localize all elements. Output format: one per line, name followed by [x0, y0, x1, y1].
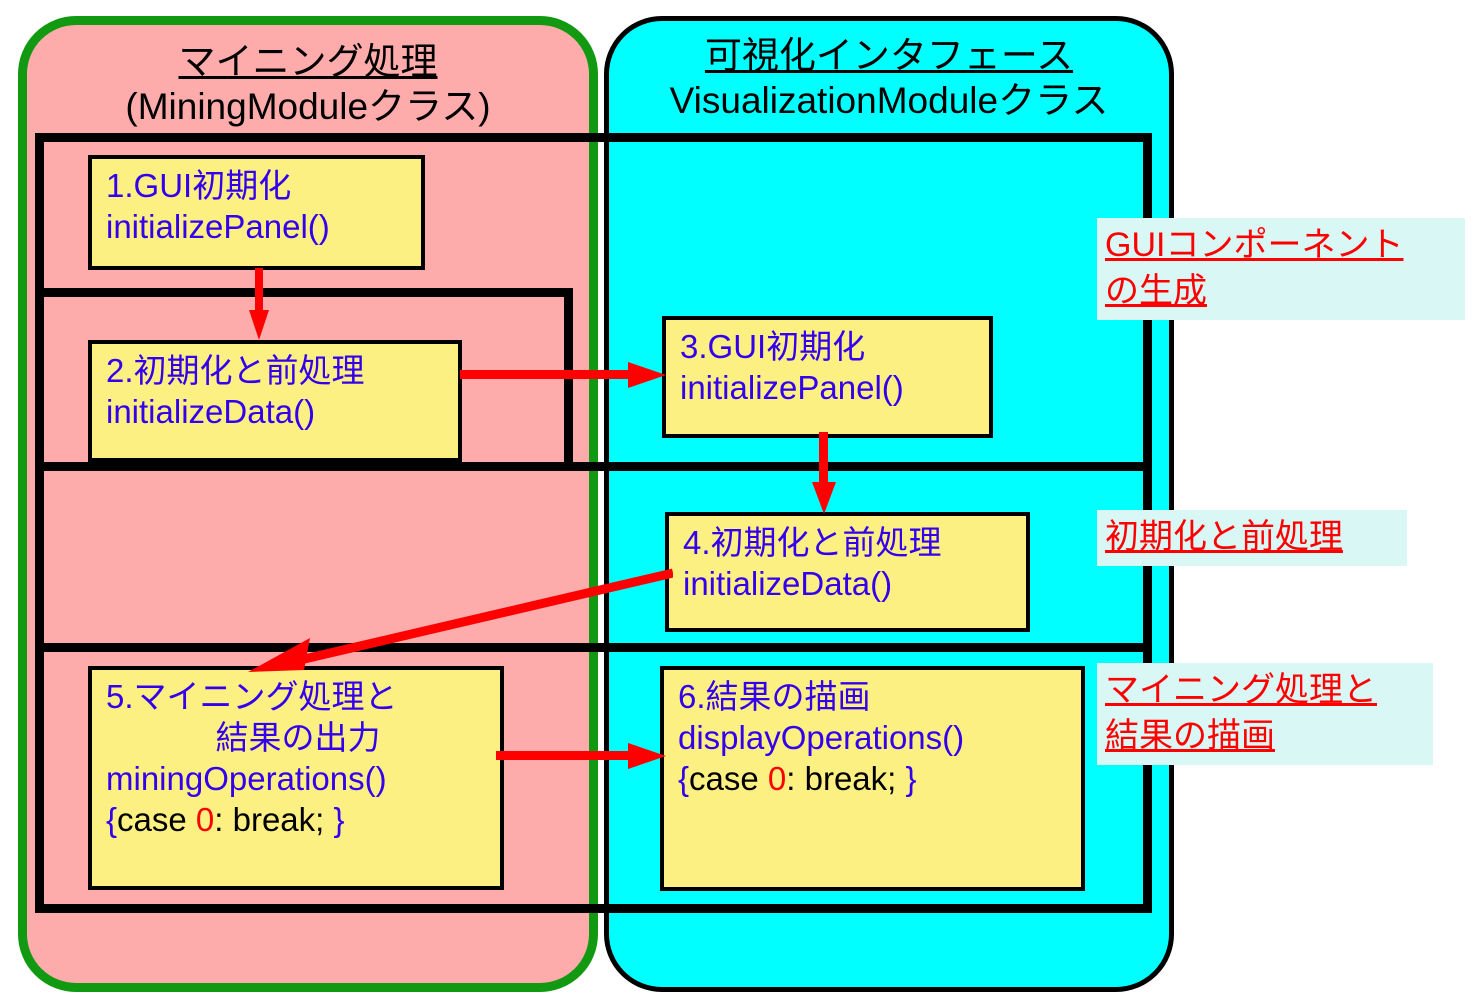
phase-note-gui-creation: GUIコンポーネント の生成	[1097, 218, 1465, 320]
phase-note-mine-line-2: 結果の描画	[1105, 717, 1275, 755]
step-6-line-2: displayOperations()	[678, 717, 1071, 758]
step-2-line-1: 2.初期化と前処理	[106, 350, 448, 391]
phase-divider-initialization	[35, 462, 1152, 471]
phase-note-mine-line-1: マイニング処理と	[1105, 671, 1377, 709]
step-5-line-3: miningOperations()	[106, 758, 490, 799]
swimlane-mining-title-line2: (MiningModuleクラス)	[27, 84, 589, 129]
step-box-5-mining-operations[interactable]: 5.マイニング処理と 結果の出力 miningOperations() {cas…	[88, 666, 504, 890]
step-6-code-open: {	[678, 760, 689, 797]
step-5-code-keyword: case	[117, 801, 196, 838]
step-6-code-number: 0	[768, 760, 786, 797]
diagram-canvas: マイニング処理 (MiningModuleクラス) 可視化インタフェース Vis…	[0, 0, 1475, 1008]
step-6-code-middle: : break;	[786, 760, 905, 797]
swimlane-visualization-title-line2: VisualizationModuleクラス	[609, 78, 1169, 123]
step-box-2-initialize-data[interactable]: 2.初期化と前処理 initializeData()	[88, 340, 462, 462]
step-4-line-1: 4.初期化と前処理	[683, 522, 1016, 563]
step-6-code-close: }	[906, 760, 917, 797]
step-box-6-display-operations[interactable]: 6.結果の描画 displayOperations() {case 0: bre…	[660, 666, 1085, 891]
step-6-code-keyword: case	[689, 760, 768, 797]
step-2-line-2: initializeData()	[106, 391, 448, 432]
phase-note-init-line-1: 初期化と前処理	[1105, 518, 1343, 556]
swimlane-visualization-title-line1: 可視化インタフェース	[609, 33, 1169, 78]
step-1-line-1: 1.GUI初期化	[106, 165, 411, 206]
phase-note-gui-line-1: GUIコンポーネント	[1105, 226, 1403, 264]
swimlane-visualization-title: 可視化インタフェース VisualizationModuleクラス	[609, 33, 1169, 123]
step-box-4-initialize-data[interactable]: 4.初期化と前処理 initializeData()	[665, 512, 1030, 632]
arrow-step5-to-step6-icon	[496, 742, 666, 770]
step-1-line-2: initializePanel()	[106, 206, 411, 247]
step-6-code-line: {case 0: break; }	[678, 758, 1071, 799]
arrow-step3-to-step4-icon	[812, 432, 836, 514]
arrow-step2-to-step3-icon	[460, 362, 666, 388]
step-5-code-open: {	[106, 801, 117, 838]
step-3-line-2: initializePanel()	[680, 367, 979, 408]
phase-note-gui-line-2: の生成	[1105, 272, 1207, 310]
step-box-1-initialize-panel[interactable]: 1.GUI初期化 initializePanel()	[88, 155, 425, 270]
step-6-line-1: 6.結果の描画	[678, 676, 1071, 717]
step-5-line-1: 5.マイニング処理と	[106, 676, 490, 717]
arrow-step1-to-step2-icon	[249, 268, 269, 340]
step-5-code-number: 0	[196, 801, 214, 838]
swimlane-mining-title: マイニング処理 (MiningModuleクラス)	[27, 39, 589, 129]
step-box-3-initialize-panel[interactable]: 3.GUI初期化 initializePanel()	[662, 316, 993, 438]
step-5-code-close: }	[334, 801, 345, 838]
step-5-code-line: {case 0: break; }	[106, 799, 490, 840]
arrow-step4-to-step5-icon	[248, 560, 673, 680]
step-4-line-2: initializeData()	[683, 563, 1016, 604]
step-3-line-1: 3.GUI初期化	[680, 326, 979, 367]
phase-note-initialization: 初期化と前処理	[1097, 510, 1407, 566]
phase-note-mining: マイニング処理と 結果の描画	[1097, 663, 1433, 765]
swimlane-mining-title-line1: マイニング処理	[27, 39, 589, 84]
step-5-line-2: 結果の出力	[106, 717, 490, 758]
step-5-code-middle: : break;	[214, 801, 333, 838]
